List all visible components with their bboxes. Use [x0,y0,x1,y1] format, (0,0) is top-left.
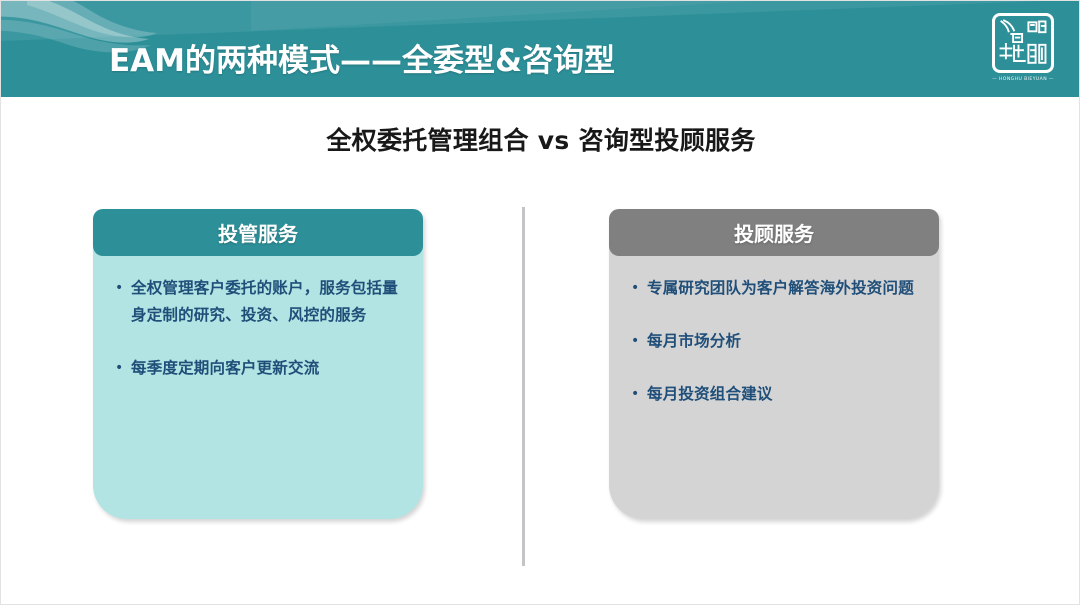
bullet-dot-icon: • [111,355,131,382]
card-header-discretionary: 投管服务 [93,209,423,256]
list-item-label: 专属研究团队为客户解答海外投资问题 [647,275,921,302]
column-divider [522,207,525,566]
logo-seal-icon [995,16,1051,70]
slide-subtitle: 全权委托管理组合 vs 咨询型投顾服务 [1,121,1080,157]
card-header-advisory: 投顾服务 [609,209,939,256]
bullet-dot-icon: • [111,275,131,302]
brand-logo: — HONGHU BIEYUAN — [987,13,1059,91]
list-item-label: 每月投资组合建议 [647,381,921,408]
card-advisory: • 专属研究团队为客户解答海外投资问题 • 每月市场分析 • 每月投资组合建议 … [609,209,939,519]
list-item: • 每月投资组合建议 [627,381,921,408]
list-item-label: 全权管理客户委托的账户，服务包括量身定制的研究、投资、风控的服务 [131,275,405,329]
bullet-dot-icon: • [627,381,647,408]
list-item: • 每月市场分析 [627,328,921,355]
header-diagonal-accent-secondary [251,1,1080,31]
list-item-label: 每月市场分析 [647,328,921,355]
list-item: • 专属研究团队为客户解答海外投资问题 [627,275,921,302]
bullet-dot-icon: • [627,328,647,355]
card-bullet-list: • 专属研究团队为客户解答海外投资问题 • 每月市场分析 • 每月投资组合建议 [609,256,939,434]
list-item: • 每季度定期向客户更新交流 [111,355,405,382]
slide: EAM的两种模式——全委型&咨询型 [0,0,1080,605]
list-item-label: 每季度定期向客户更新交流 [131,355,405,382]
logo-mark-icon [992,13,1054,73]
list-item: • 全权管理客户委托的账户，服务包括量身定制的研究、投资、风控的服务 [111,275,405,329]
page-title: EAM的两种模式——全委型&咨询型 [109,35,615,80]
header-bar: EAM的两种模式——全委型&咨询型 [1,1,1080,97]
card-bullet-list: • 全权管理客户委托的账户，服务包括量身定制的研究、投资、风控的服务 • 每季度… [93,256,423,408]
logo-caption: — HONGHU BIEYUAN — [987,77,1059,82]
bullet-dot-icon: • [627,275,647,302]
card-discretionary: • 全权管理客户委托的账户，服务包括量身定制的研究、投资、风控的服务 • 每季度… [93,209,423,519]
